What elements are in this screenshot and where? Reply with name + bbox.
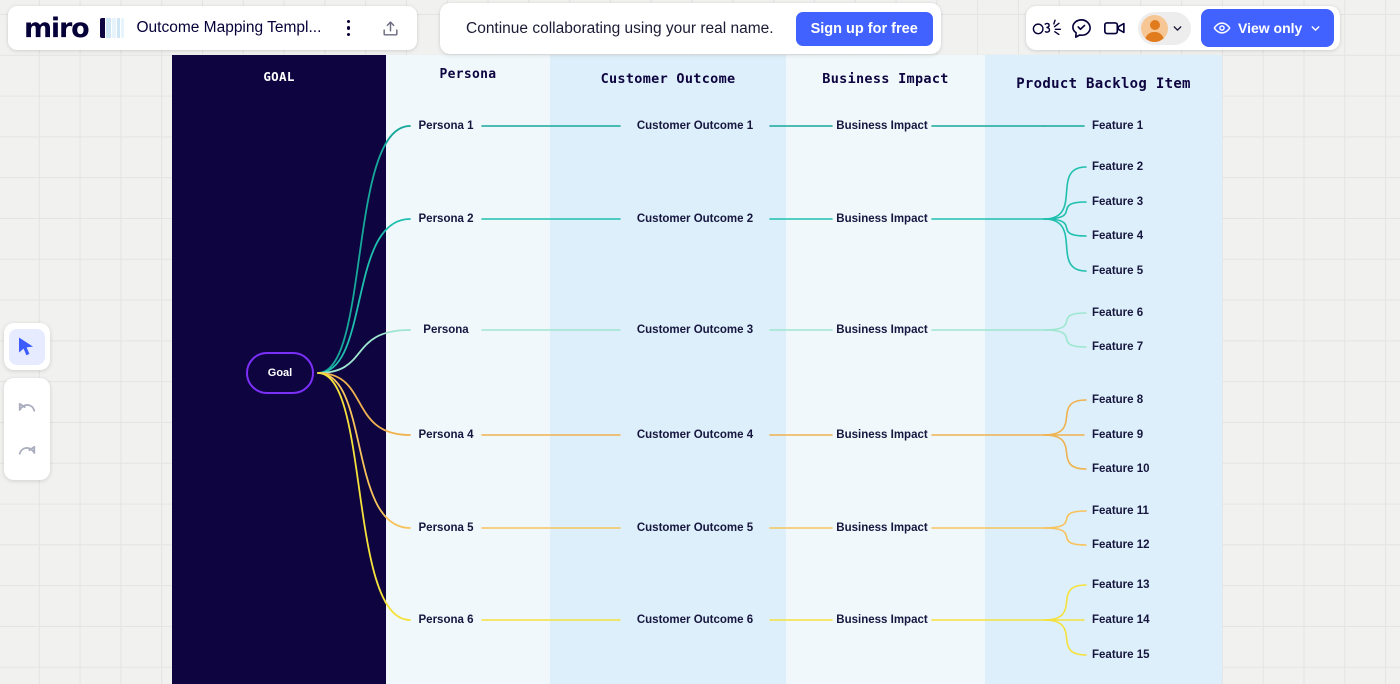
node-label[interactable]: Feature 1 <box>1092 120 1143 132</box>
chevron-down-icon <box>1309 22 1322 35</box>
eye-icon <box>1213 19 1231 37</box>
connector-line <box>1044 435 1086 469</box>
connector-line <box>1044 400 1086 435</box>
node-label[interactable]: Feature 5 <box>1092 265 1143 277</box>
board-header-pill: miro Outcome Mapping Templ... <box>8 6 417 50</box>
node-label[interactable]: Persona 6 <box>419 614 474 626</box>
connector-line <box>1044 620 1086 655</box>
connector-line <box>1044 219 1086 271</box>
node-label[interactable]: Feature 12 <box>1092 539 1150 551</box>
node-label[interactable]: Business Impact <box>836 614 927 626</box>
node-label[interactable]: Persona 5 <box>419 522 474 534</box>
connector-line <box>318 373 410 435</box>
node-label[interactable]: Business Impact <box>836 324 927 336</box>
cursor-select-icon[interactable] <box>9 329 45 365</box>
node-label[interactable]: Business Impact <box>836 429 927 441</box>
top-bar: miro Outcome Mapping Templ... Continue c… <box>0 0 1400 56</box>
toolbar-select-group <box>4 323 50 370</box>
sign-up-button[interactable]: Sign up for free <box>796 12 933 46</box>
node-label[interactable]: Customer Outcome 5 <box>637 522 753 534</box>
connector-lines <box>172 55 1222 684</box>
connector-line <box>318 219 410 373</box>
connector-line <box>1044 167 1086 219</box>
collaboration-controls: View only <box>1026 6 1340 50</box>
miro-board-app: GOAL Persona Customer Outcome Business I… <box>0 0 1400 684</box>
node-label[interactable]: Business Impact <box>836 120 927 132</box>
connector-line <box>1044 585 1086 620</box>
node-label[interactable]: Business Impact <box>836 213 927 225</box>
node-label[interactable]: Customer Outcome 3 <box>637 324 753 336</box>
node-label[interactable]: Feature 15 <box>1092 649 1150 661</box>
node-label[interactable]: Feature 4 <box>1092 230 1143 242</box>
connector-line <box>1044 330 1086 347</box>
node-label[interactable]: Feature 10 <box>1092 463 1150 475</box>
miro-logo[interactable]: miro <box>24 13 88 44</box>
chat-icon[interactable] <box>1066 13 1096 43</box>
node-label[interactable]: Feature 9 <box>1092 429 1143 441</box>
connector-line <box>1044 313 1086 330</box>
connector-line <box>318 373 410 528</box>
node-label[interactable]: Feature 11 <box>1092 505 1149 517</box>
board-title[interactable]: Outcome Mapping Templ... <box>136 19 321 37</box>
node-label[interactable]: Customer Outcome 2 <box>637 213 753 225</box>
redo-arrow-icon[interactable] <box>7 431 47 471</box>
goal-node[interactable]: Goal <box>246 352 314 394</box>
node-label[interactable]: Feature 2 <box>1092 161 1143 173</box>
node-label[interactable]: Feature 8 <box>1092 394 1143 406</box>
node-label[interactable]: Customer Outcome 4 <box>637 429 753 441</box>
connector-line <box>1044 511 1086 528</box>
signup-banner: Continue collaborating using your real n… <box>440 3 941 54</box>
node-label[interactable]: Customer Outcome 6 <box>637 614 753 626</box>
banner-message: Continue collaborating using your real n… <box>466 20 774 38</box>
node-label[interactable]: Customer Outcome 1 <box>637 120 753 132</box>
user-avatar <box>1141 15 1168 42</box>
node-label[interactable]: Feature 14 <box>1092 614 1150 626</box>
node-label[interactable]: Feature 3 <box>1092 196 1143 208</box>
node-label[interactable]: Persona 4 <box>419 429 474 441</box>
toolbar-history-group <box>4 378 50 480</box>
node-label[interactable]: Persona 1 <box>419 120 474 132</box>
goal-node-label: Goal <box>268 367 292 379</box>
video-camera-icon[interactable] <box>1100 13 1130 43</box>
connector-line <box>1044 528 1086 545</box>
node-label[interactable]: Feature 6 <box>1092 307 1143 319</box>
node-label[interactable]: Business Impact <box>836 522 927 534</box>
chevron-down-icon <box>1171 22 1184 35</box>
view-only-button[interactable]: View only <box>1201 9 1334 47</box>
view-only-label: View only <box>1238 20 1302 36</box>
node-label[interactable]: Persona <box>423 324 468 336</box>
node-label[interactable]: Feature 13 <box>1092 579 1150 591</box>
node-label[interactable]: Persona 2 <box>419 213 474 225</box>
undo-arrow-icon[interactable] <box>7 388 47 428</box>
avatar-menu[interactable] <box>1138 12 1191 45</box>
connector-line <box>318 126 410 373</box>
reactions-icon[interactable] <box>1032 13 1062 43</box>
node-label[interactable]: Feature 7 <box>1092 341 1143 353</box>
board-thumbnail-icon <box>100 18 124 38</box>
outcome-map-board[interactable]: GOAL Persona Customer Outcome Business I… <box>172 55 1222 684</box>
upload-share-icon[interactable] <box>375 13 405 43</box>
kebab-menu-icon[interactable] <box>333 13 363 43</box>
